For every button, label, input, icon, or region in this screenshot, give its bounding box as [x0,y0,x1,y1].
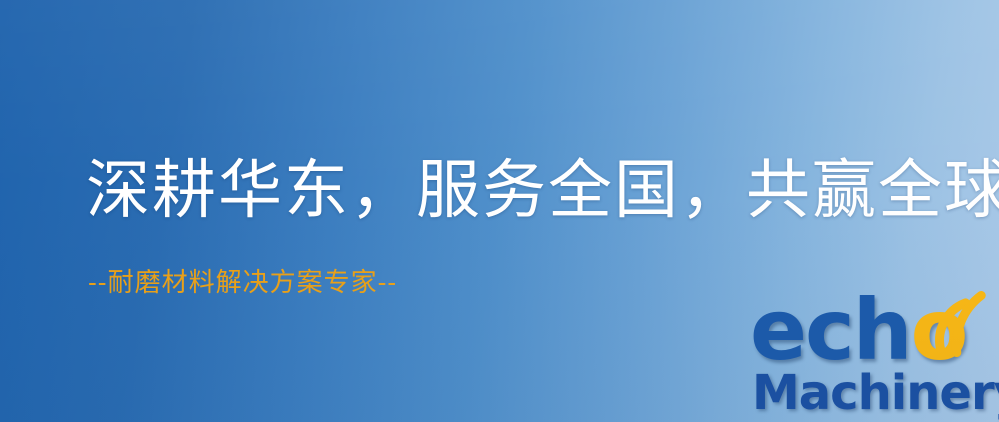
banner-headline: 深耕华东，服务全国，共赢全球 [86,152,999,230]
logo-tagline: Machinery® [752,364,999,418]
logo-wordmark: echo [748,292,999,364]
banner-subtitle: --耐磨材料解决方案专家-- [88,266,397,300]
echo-machinery-logo[interactable]: echo Machinery® [748,292,999,422]
signal-waves-icon [924,290,999,360]
logo-tagline-text: Machinery [752,365,999,421]
promotional-banner: 深耕华东，服务全国，共赢全球 --耐磨材料解决方案专家-- echo Machi… [0,0,999,422]
